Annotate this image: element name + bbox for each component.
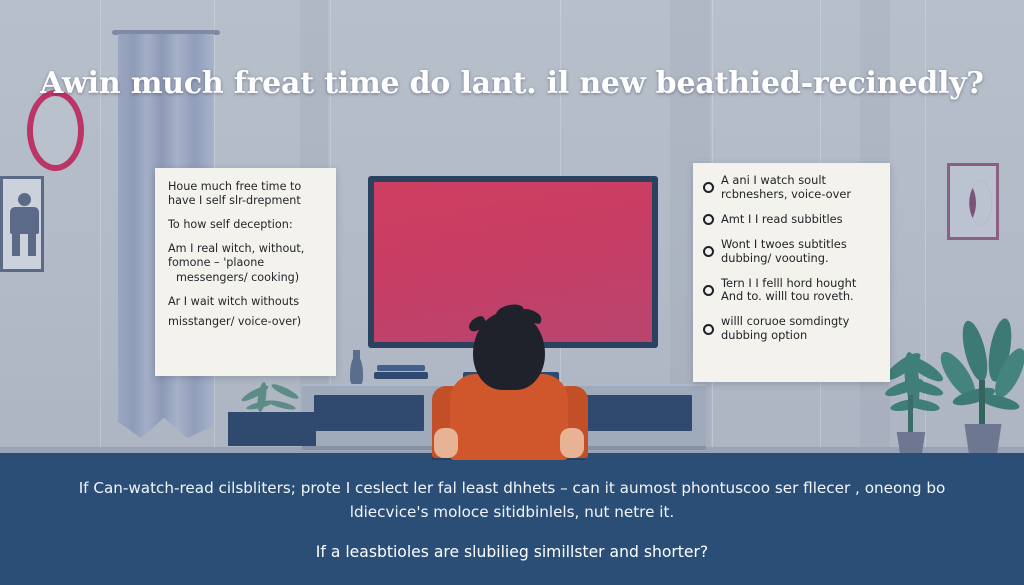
left-note-line: To how self deception: [168,218,323,232]
person-arm-right [560,428,584,458]
left-note-line: Houe much free time to have I self slr-d… [168,180,323,208]
radio-button-icon[interactable] [703,246,714,257]
page-title: Awin much freat time do lant. il new bea… [0,66,1024,101]
picture-figure-head-icon [18,193,31,206]
left-notes-panel: Houe much free time to have I self slr-d… [155,168,336,376]
option-label: A ani I watch soult rcbneshers, voice-ov… [721,174,880,202]
option-label: Amt I I read subbitles [721,213,843,227]
left-note-line: messengers/ cooking) [168,271,323,285]
option-row[interactable]: A ani I watch soult rcbneshers, voice-ov… [703,174,880,202]
option-row[interactable]: Tern I I felll hord hought And to. willl… [703,277,880,305]
option-row[interactable]: Wont I twoes subtitles dubbing/ voouting… [703,238,880,266]
console-drawer [314,395,424,431]
bottom-caption-banner: If Can-watch-read cilsbliters; prote I c… [0,453,1024,585]
option-label: Tern I I felll hord hought And to. willl… [721,277,880,305]
framed-picture-right [947,163,999,240]
left-note-line: Ar I wait witch withouts [168,295,323,309]
book-stack [374,372,428,379]
vase [350,357,363,387]
option-label: willl coruoe somdingty dubbing option [721,315,880,343]
planter-box [228,412,316,446]
picture-figure-leg-icon [28,234,36,256]
picture-figure-body-icon [10,207,39,234]
book-stack-top [377,365,425,371]
option-label: Wont I twoes subtitles dubbing/ voouting… [721,238,880,266]
left-note-line: Am I real witch, without, fomone – 'plao… [168,242,323,270]
slide-canvas: Awin much freat time do lant. il new bea… [0,0,1024,585]
picture-figure-leg-icon [12,234,20,256]
left-note-line: misstanger/ voice-over) [168,315,323,329]
person-arm-left [434,428,458,458]
framed-picture-left [0,176,44,272]
radio-button-icon[interactable] [703,214,714,225]
option-row[interactable]: Amt I I read subbitles [703,213,880,227]
caption-paragraph: If Can-watch-read cilsbliters; prote I c… [72,477,952,524]
crescent-moon-icon [962,179,992,227]
right-options-panel: A ani I watch soult rcbneshers, voice-ov… [693,163,890,382]
caption-question: If a leasbtioles are slubilieg simillste… [316,543,708,561]
radio-button-icon[interactable] [703,324,714,335]
option-row[interactable]: willl coruoe somdingty dubbing option [703,315,880,343]
radio-button-icon[interactable] [703,182,714,193]
console-drawer [580,395,692,431]
radio-button-icon[interactable] [703,285,714,296]
wall-mirror-ring-icon [27,90,84,171]
